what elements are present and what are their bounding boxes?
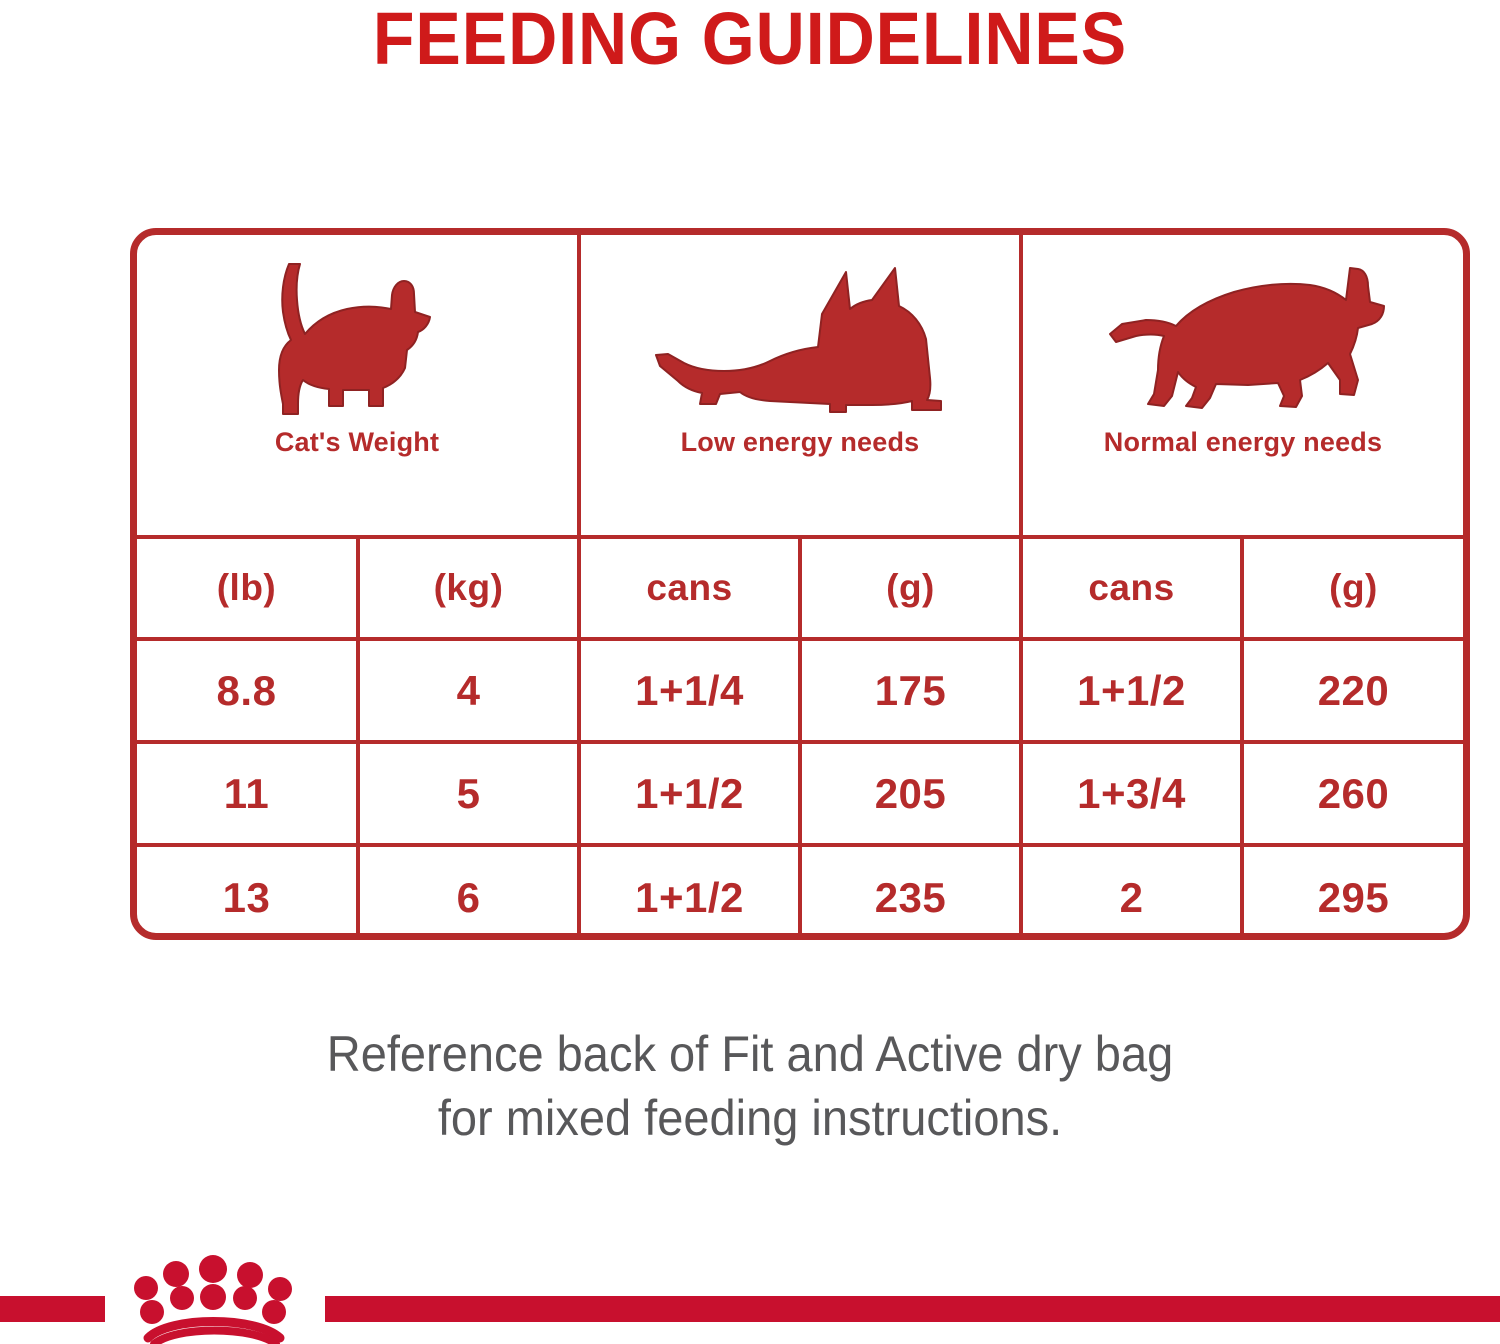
cell-normal-grams: 260 xyxy=(1242,742,1463,845)
unit-cell-normal-cans: cans xyxy=(1021,537,1242,639)
brand-bar-right-segment xyxy=(325,1296,1500,1322)
cell-normal-grams: 220 xyxy=(1242,639,1463,742)
cell-low-cans: 1+1/2 xyxy=(579,742,800,845)
feeding-guidelines-table: Cat's Weight Low energy needs xyxy=(130,228,1470,940)
footnote-line-1: Reference back of Fit and Active dry bag xyxy=(45,1022,1455,1086)
brand-bar-left-segment xyxy=(0,1296,105,1322)
cell-weight-kg: 4 xyxy=(358,639,579,742)
cell-weight-lb: 8.8 xyxy=(137,639,358,742)
footnote: Reference back of Fit and Active dry bag… xyxy=(45,1022,1455,1150)
page-title: FEEDING GUIDELINES xyxy=(60,2,1440,76)
cell-low-grams: 235 xyxy=(800,845,1021,940)
cell-weight-lb: 13 xyxy=(137,845,358,940)
cell-weight-lb: 11 xyxy=(137,742,358,845)
unit-cell-kg: (kg) xyxy=(358,537,579,639)
cell-low-cans: 1+1/2 xyxy=(579,845,800,940)
header-cell-low-energy: Low energy needs xyxy=(579,235,1021,537)
feeding-guidelines-panel: FEEDING GUIDELINES Cat's Weight xyxy=(0,0,1500,1344)
unit-cell-low-g: (g) xyxy=(800,537,1021,639)
table-unit-row: (lb) (kg) cans (g) cans (g) xyxy=(137,537,1463,639)
cat-lying-icon xyxy=(650,249,950,419)
header-cell-cats-weight: Cat's Weight xyxy=(137,235,579,537)
group-label-low-energy: Low energy needs xyxy=(681,427,920,458)
table-row: 13 6 1+1/2 235 2 295 xyxy=(137,845,1463,940)
table-row: 8.8 4 1+1/4 175 1+1/2 220 xyxy=(137,639,1463,742)
group-label-cats-weight: Cat's Weight xyxy=(275,427,439,458)
unit-cell-low-cans: cans xyxy=(579,537,800,639)
cell-normal-cans: 1+3/4 xyxy=(1021,742,1242,845)
unit-cell-normal-g: (g) xyxy=(1242,537,1463,639)
cell-low-cans: 1+1/4 xyxy=(579,639,800,742)
unit-cell-lb: (lb) xyxy=(137,537,358,639)
table-header-icon-row: Cat's Weight Low energy needs xyxy=(137,235,1463,537)
group-label-normal-energy: Normal energy needs xyxy=(1104,427,1382,458)
footnote-line-2: for mixed feeding instructions. xyxy=(45,1086,1455,1150)
cell-weight-kg: 6 xyxy=(358,845,579,940)
cat-standing-icon xyxy=(257,249,457,419)
cell-normal-grams: 295 xyxy=(1242,845,1463,940)
royal-canin-crown-logo xyxy=(108,1250,322,1344)
cell-normal-cans: 1+1/2 xyxy=(1021,639,1242,742)
cell-normal-cans: 2 xyxy=(1021,845,1242,940)
brand-bar xyxy=(0,1240,1500,1344)
header-cell-normal-energy: Normal energy needs xyxy=(1021,235,1463,537)
cat-walking-icon xyxy=(1088,249,1398,419)
cell-low-grams: 175 xyxy=(800,639,1021,742)
table-row: 11 5 1+1/2 205 1+3/4 260 xyxy=(137,742,1463,845)
cell-low-grams: 205 xyxy=(800,742,1021,845)
cell-weight-kg: 5 xyxy=(358,742,579,845)
